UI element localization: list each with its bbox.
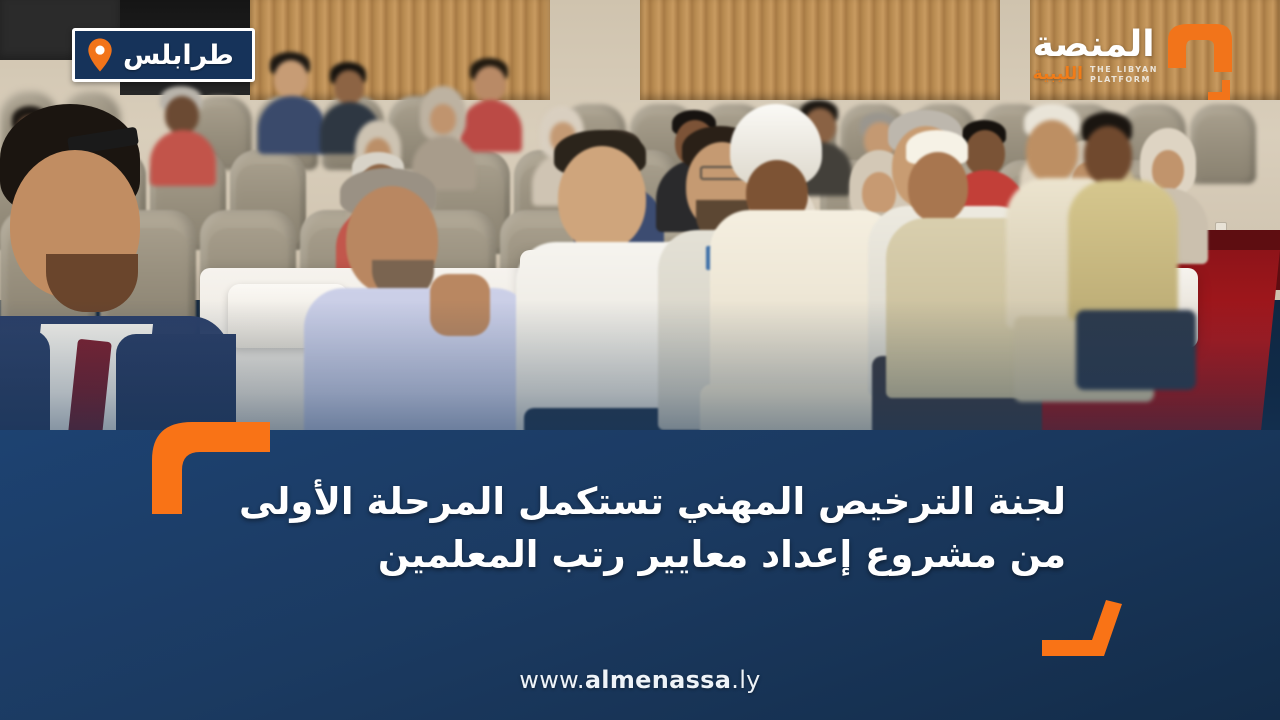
almenassa-logo-mark-icon: [1162, 20, 1236, 104]
headline-text: لجنة الترخيص المهني تستكمل المرحلة الأول…: [206, 476, 1066, 581]
site-logo[interactable]: المنصة THE LIBYAN PLATFORM الليبية: [1033, 18, 1236, 104]
logo-arabic-name: المنصة: [1033, 28, 1155, 63]
logo-english-name: THE LIBYAN PLATFORM: [1090, 65, 1158, 85]
location-badge-label: طرابلس: [123, 42, 234, 69]
logo-arabic-qualifier: الليبية: [1033, 66, 1083, 83]
url-prefix: www.: [519, 666, 585, 694]
map-pin-icon: [87, 38, 113, 72]
logo-subline: THE LIBYAN PLATFORM الليبية: [1033, 65, 1158, 85]
location-badge[interactable]: طرابلس: [72, 28, 255, 82]
logo-wordmark: المنصة THE LIBYAN PLATFORM الليبية: [1033, 18, 1158, 85]
url-tld: .ly: [731, 666, 760, 694]
url-brand: almenassa: [585, 666, 731, 694]
orange-check-icon: [1042, 600, 1128, 656]
website-url[interactable]: www.almenassa.ly: [0, 666, 1280, 694]
window-blinds-center: [640, 0, 1000, 100]
news-card: طرابلس المنصة THE LIBYAN PLATFORM الليبي…: [0, 0, 1280, 720]
